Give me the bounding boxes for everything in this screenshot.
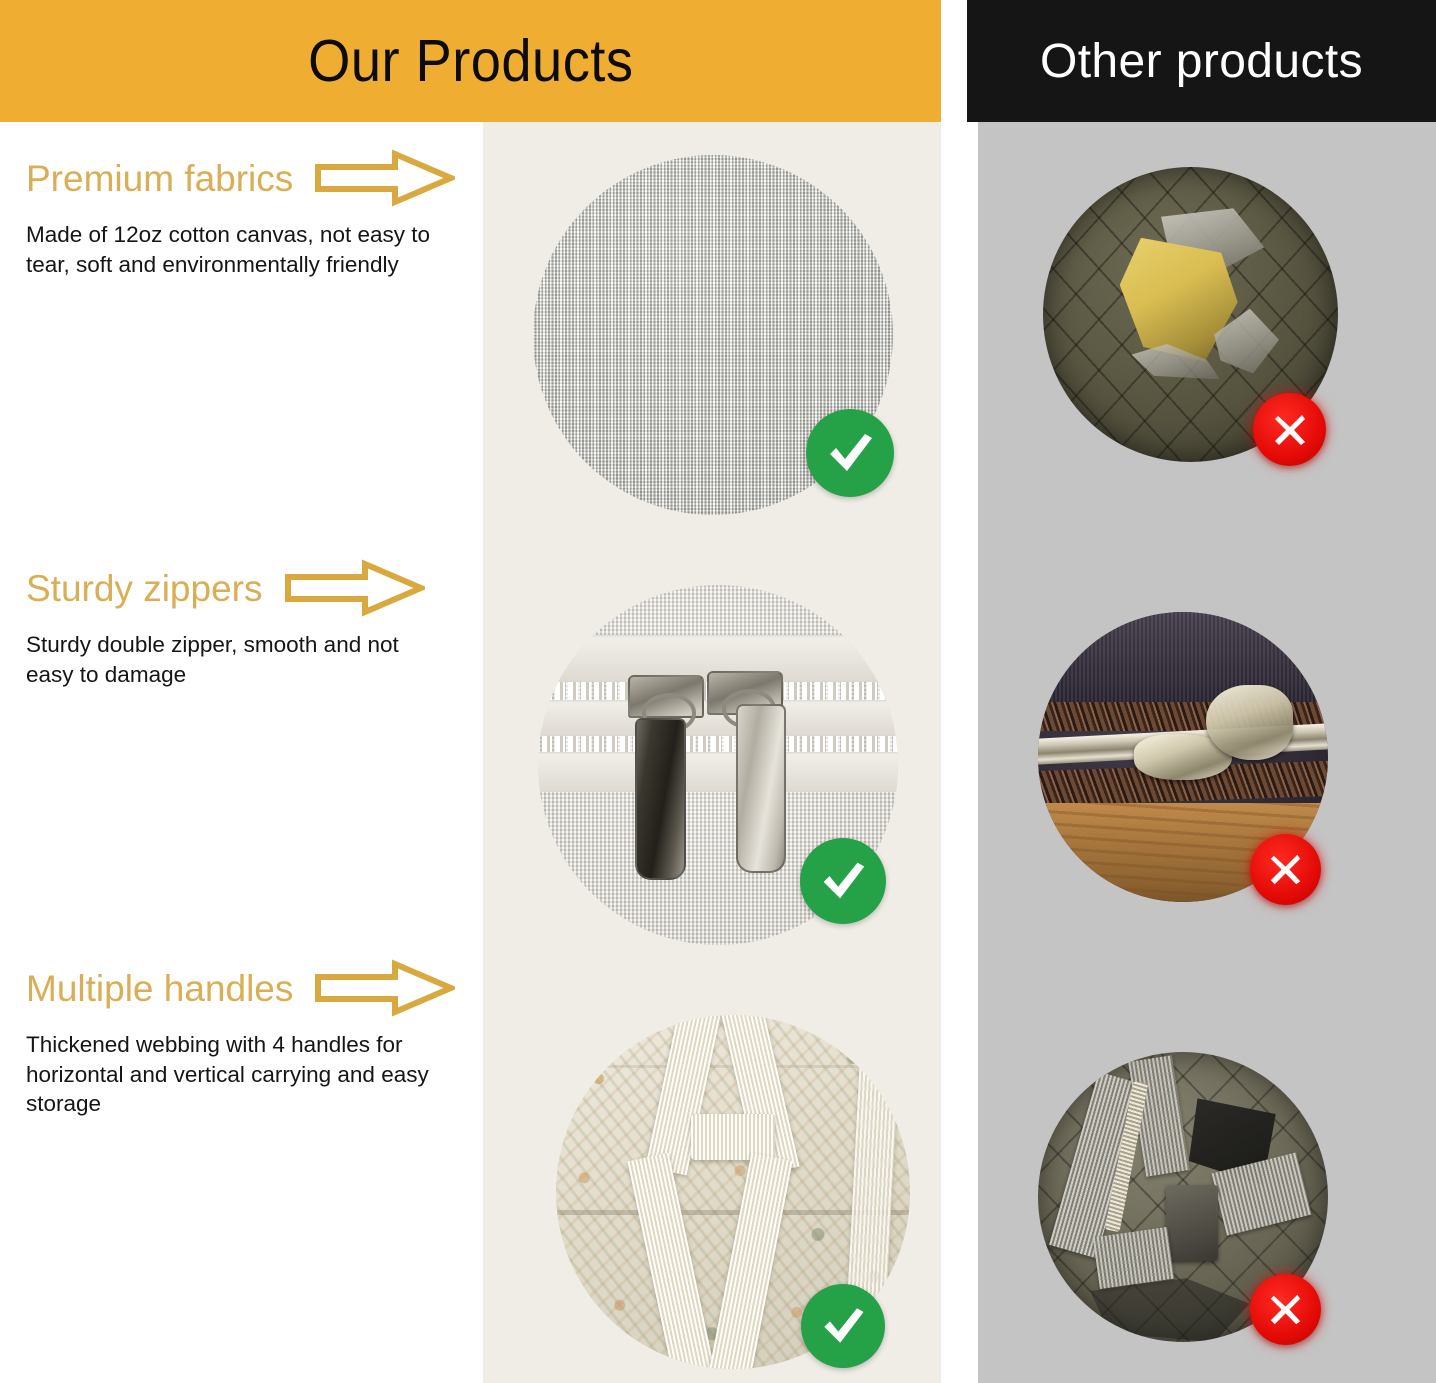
status-badge-cross (1253, 393, 1326, 466)
status-badge-check (800, 838, 886, 924)
arrow-right-outline-icon (315, 959, 455, 1017)
feature-multiple-handles: Multiple handles Thickened webbing with … (0, 960, 483, 1119)
check-icon (815, 1298, 871, 1354)
other-products-title: Other products (1040, 34, 1363, 89)
other-products-header: Other products (967, 0, 1436, 122)
feature-title: Premium fabrics (26, 160, 293, 197)
arrow-right-outline-icon (315, 149, 455, 207)
our-products-title: Our Products (308, 27, 633, 95)
status-badge-cross (1250, 834, 1321, 905)
feature-description: Thickened webbing with 4 handles for hor… (0, 1016, 483, 1119)
check-icon (820, 423, 880, 483)
cross-icon (1262, 846, 1309, 893)
cross-icon (1262, 1286, 1309, 1333)
cross-icon (1266, 406, 1314, 454)
infographic-canvas: Our Products Premium fabrics Made of 12o… (0, 0, 1436, 1383)
status-badge-check (806, 409, 894, 497)
feature-description: Made of 12oz cotton canvas, not easy to … (0, 206, 483, 279)
feature-heading-row: Premium fabrics (0, 150, 483, 206)
other-products-image-column (978, 122, 1436, 1383)
feature-description: Sturdy double zipper, smooth and not eas… (0, 616, 483, 689)
feature-heading-row: Multiple handles (0, 960, 483, 1016)
features-text-column (0, 122, 483, 1383)
our-products-header: Our Products (0, 0, 941, 122)
status-badge-check (801, 1284, 885, 1368)
feature-sturdy-zippers: Sturdy zippers Sturdy double zipper, smo… (0, 560, 483, 689)
feature-heading-row: Sturdy zippers (0, 560, 483, 616)
check-icon (814, 852, 872, 910)
status-badge-cross (1250, 1274, 1321, 1345)
feature-title: Sturdy zippers (26, 570, 263, 607)
arrow-right-outline-icon (285, 559, 425, 617)
feature-premium-fabrics: Premium fabrics Made of 12oz cotton canv… (0, 150, 483, 279)
other-products-panel: Other products (967, 0, 1436, 1383)
our-products-panel: Our Products Premium fabrics Made of 12o… (0, 0, 941, 1383)
feature-title: Multiple handles (26, 970, 293, 1007)
